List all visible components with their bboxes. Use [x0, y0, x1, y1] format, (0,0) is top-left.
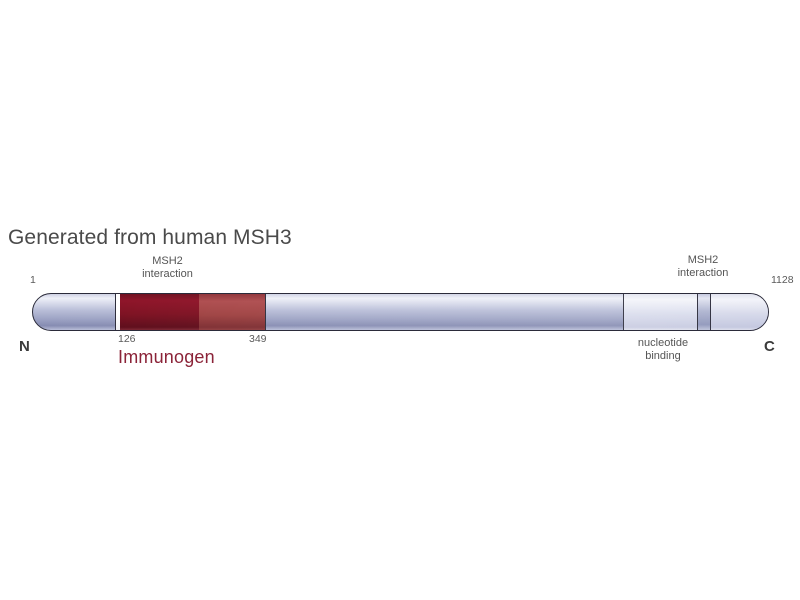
protein-domain-diagram: Generated from human MSH3 MSH2 interacti…: [0, 0, 800, 600]
tick-label-349: 349: [249, 333, 267, 345]
immunogen-label: Immunogen: [118, 347, 215, 368]
c-terminus-label: C: [764, 338, 775, 355]
segment-cterminal-region: [711, 294, 768, 330]
domain-label-msh2-left: MSH2 interaction: [115, 255, 220, 281]
axis-end-label: 1128: [771, 274, 794, 286]
segment-nucleotide-binding: [623, 294, 698, 330]
domain-label-msh2-left-line1: MSH2: [115, 255, 220, 268]
domain-label-msh2-right-line1: MSH2: [648, 254, 758, 267]
axis-start-label: 1: [30, 274, 36, 286]
domain-label-nucleotide-line1: nucleotide: [598, 337, 728, 350]
segment-msh2-interaction-immunogen-core: [120, 294, 199, 330]
tick-label-126: 126: [118, 333, 136, 345]
domain-label-nucleotide-binding: nucleotide binding: [598, 337, 728, 363]
domain-label-msh2-left-line2: interaction: [115, 268, 220, 281]
n-terminus-label: N: [19, 338, 30, 355]
domain-label-msh2-right-line2: interaction: [648, 267, 758, 280]
figure-title: Generated from human MSH3: [8, 226, 292, 250]
domain-label-nucleotide-line2: binding: [598, 350, 728, 363]
segment-msh2-interaction-immunogen-tail: [199, 294, 266, 330]
segment-msh2-interaction-cterminal: [698, 294, 711, 330]
domain-label-msh2-right: MSH2 interaction: [648, 254, 758, 280]
protein-backbone-capsule: [32, 293, 769, 331]
protein-backbone-bar: [32, 293, 769, 331]
